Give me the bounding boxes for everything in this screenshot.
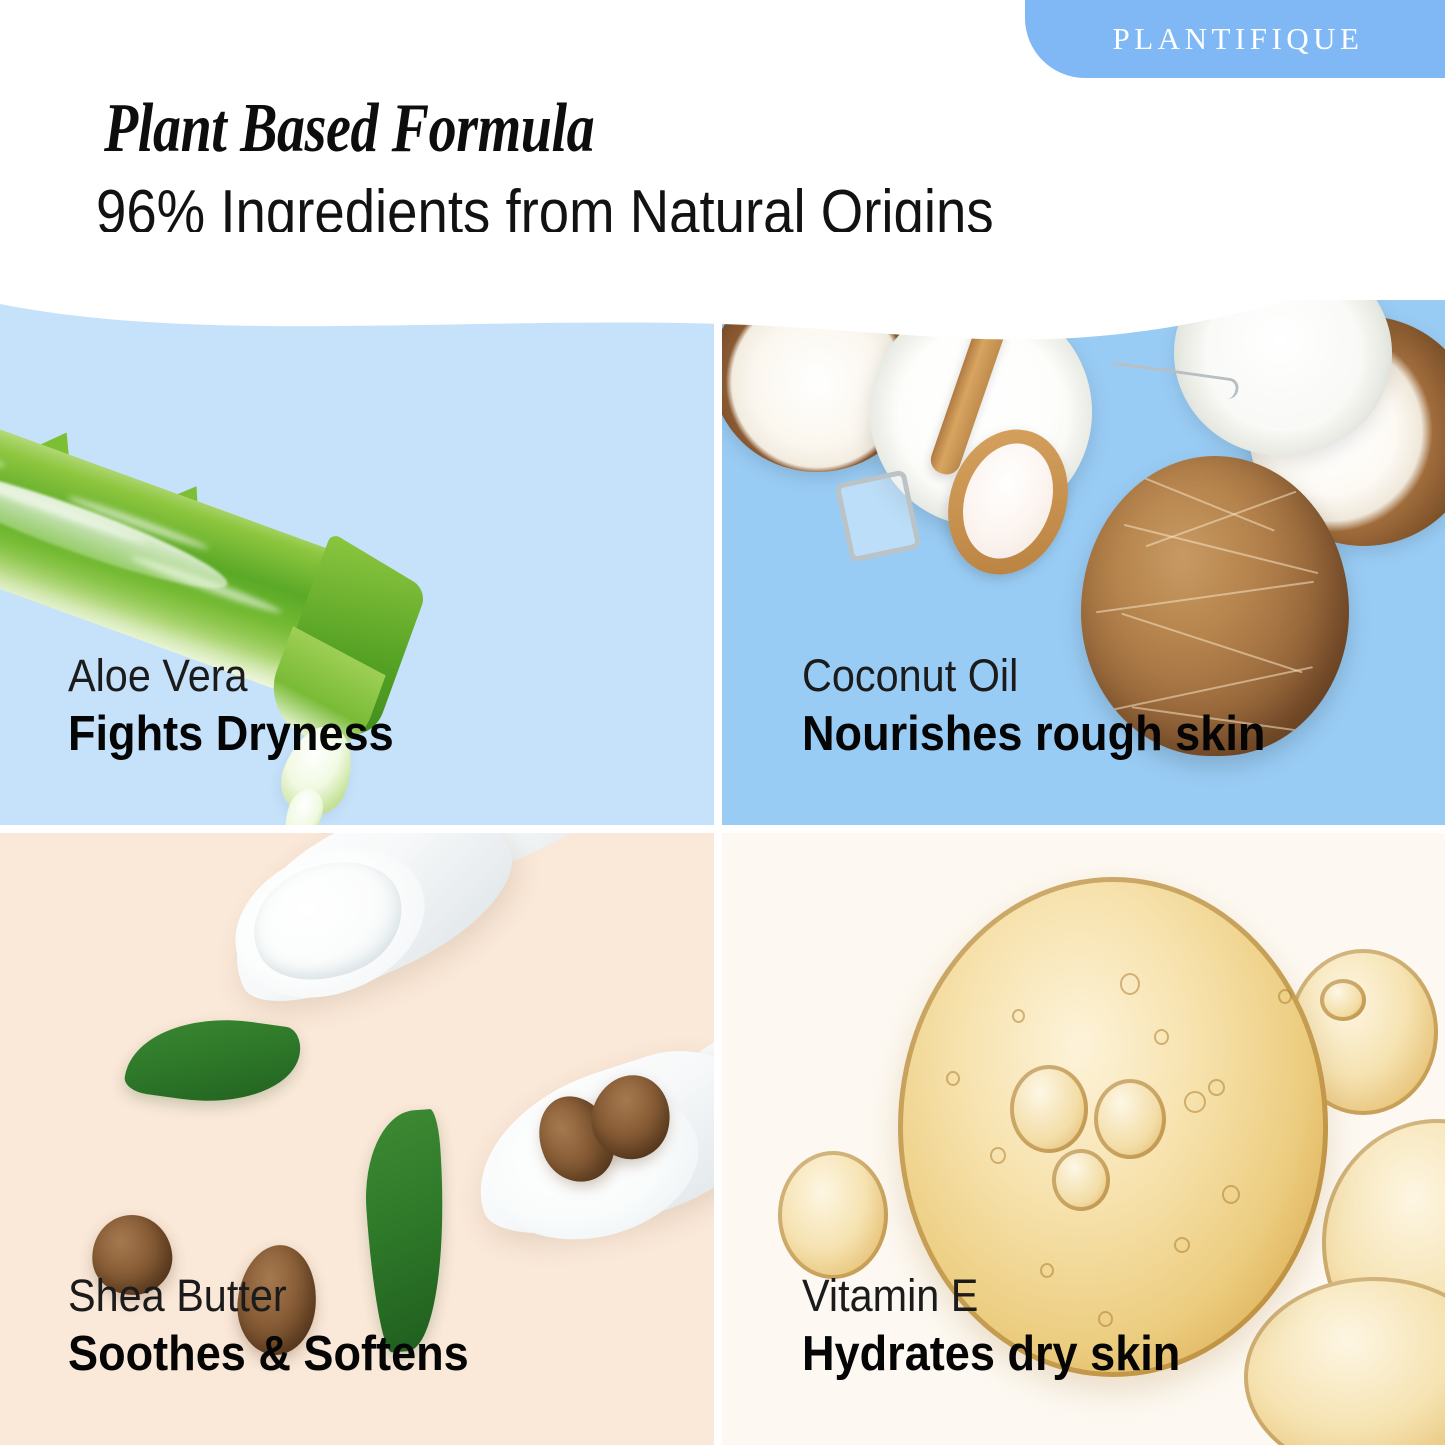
oil-micro-bubble [946, 1071, 960, 1086]
oil-bubble-inner [1010, 1065, 1088, 1153]
oil-micro-bubble [1222, 1185, 1240, 1204]
oil-micro-bubble [1120, 973, 1140, 995]
brand-badge: PLANTIFIQUE [1025, 0, 1445, 78]
page-title: Plant Based Formula [104, 92, 594, 166]
oil-bubble [778, 1151, 888, 1279]
brand-name: PLANTIFIQUE [1107, 21, 1364, 57]
oil-micro-bubble [1184, 1091, 1206, 1113]
tile-vitamin-e: Vitamin E Hydrates dry skin [722, 833, 1445, 1445]
oil-micro-bubble [1174, 1237, 1190, 1253]
tile-seam-vertical [714, 280, 722, 1445]
ingredient-name: Coconut Oil [802, 649, 1265, 703]
caption-coconut-oil: Coconut Oil Nourishes rough skin [802, 649, 1306, 763]
caption-aloe-vera: Aloe Vera Fights Dryness [68, 649, 422, 763]
green-leaf [123, 1006, 303, 1115]
oil-micro-bubble [1154, 1029, 1169, 1045]
caption-vitamin-e: Vitamin E Hydrates dry skin [802, 1269, 1213, 1383]
ingredient-benefit: Fights Dryness [68, 705, 394, 763]
oil-micro-bubble [990, 1147, 1006, 1164]
coconut-jar-lid-inner [1204, 280, 1362, 428]
ingredient-name: Aloe Vera [68, 649, 394, 703]
oil-micro-bubble [1012, 1009, 1025, 1023]
ingredient-benefit: Soothes & Softens [68, 1325, 469, 1383]
oil-bubble-inner [1094, 1079, 1166, 1159]
tile-shea-butter: Shea Butter Soothes & Softens [0, 833, 714, 1445]
ingredient-name: Shea Butter [68, 1269, 469, 1323]
page-subtitle: 96% Ingredients from Natural Origins [96, 180, 994, 246]
oil-bubble-inner [1052, 1149, 1110, 1211]
oil-bubble [1244, 1277, 1445, 1445]
infographic-canvas: Aloe Vera Fights Dryness [0, 0, 1445, 1445]
tile-seam-horizontal [0, 825, 1445, 833]
tile-coconut-oil: Coconut Oil Nourishes rough skin [722, 280, 1445, 825]
oil-micro-bubble [1208, 1079, 1225, 1096]
ingredient-benefit: Hydrates dry skin [802, 1325, 1180, 1383]
ingredient-name: Vitamin E [802, 1269, 1180, 1323]
oil-micro-bubble [1278, 989, 1292, 1004]
ingredient-benefit: Nourishes rough skin [802, 705, 1265, 763]
tile-aloe-vera: Aloe Vera Fights Dryness [0, 280, 714, 825]
caption-shea-butter: Shea Butter Soothes & Softens [68, 1269, 504, 1383]
oil-bubble-inner [1320, 979, 1366, 1021]
